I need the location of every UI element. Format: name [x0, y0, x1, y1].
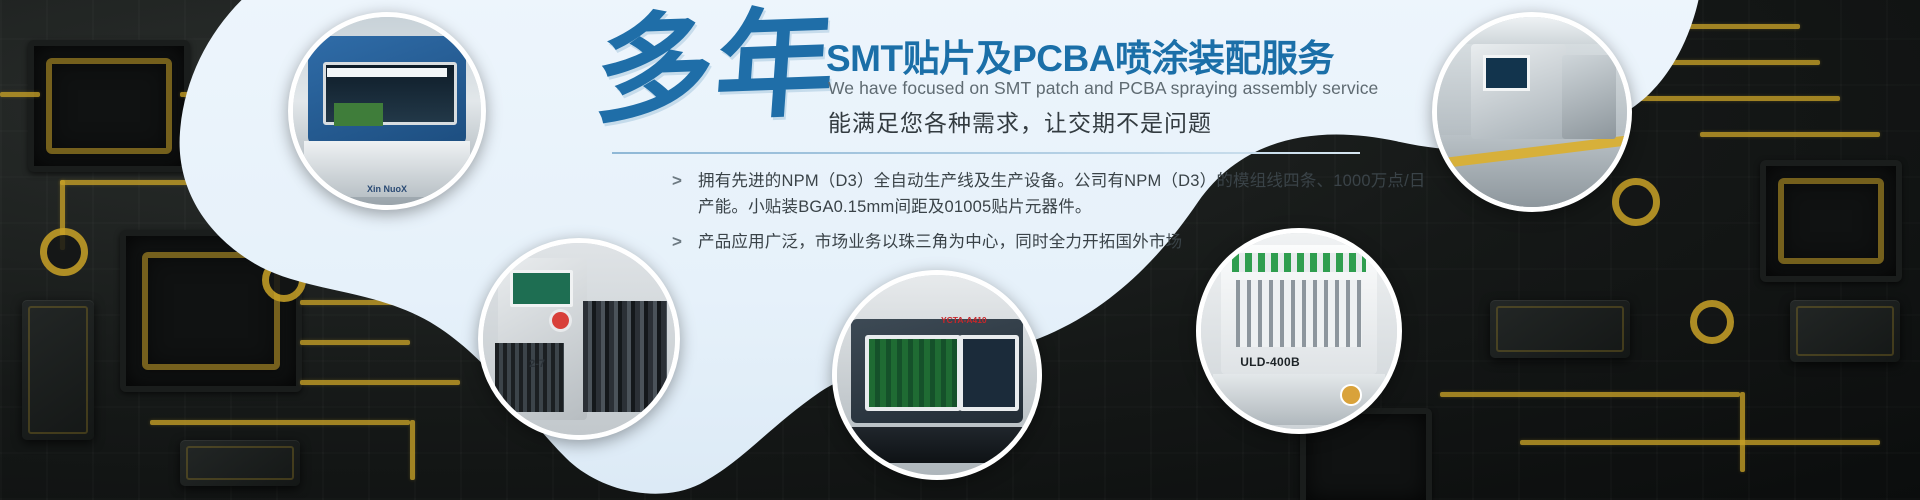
divider-line	[612, 152, 1360, 154]
promo-banner: 多年 SMT贴片及PCBA喷涂装配服务 We have focused on S…	[0, 0, 1920, 500]
machine-label: Xin NuoX	[367, 184, 407, 194]
list-item: > 拥有先进的NPM（D3）全自动生产线及生产设备。公司有NPM（D3）的模组线…	[672, 168, 1432, 220]
photo-aoi-inspection-machine: YCTA-A410	[832, 270, 1042, 480]
photo-smt-printer-machine: Xin NuoX	[288, 12, 486, 210]
photo-pick-and-place-machine: 2-7	[478, 238, 680, 440]
machine-label: YCTA-A410	[941, 315, 987, 325]
machine-label: ULD-400B	[1240, 355, 1300, 369]
list-item-label: 拥有先进的NPM（D3）全自动生产线及生产设备。公司有NPM（D3）的模组线四条…	[698, 168, 1432, 220]
subtitle-english: We have focused on SMT patch and PCBA sp…	[828, 78, 1378, 99]
chevron-right-icon: >	[672, 229, 698, 255]
page-title: SMT贴片及PCBA喷涂装配服务	[826, 28, 1334, 82]
brush-calligraphy-text: 多年	[591, 4, 840, 130]
photo-pcb-loader-machine: ULD-400B	[1196, 228, 1402, 434]
photo-production-line-room	[1432, 12, 1632, 212]
chevron-right-icon: >	[672, 168, 698, 194]
machine-label: 2-7	[529, 358, 545, 370]
list-item-label: 产品应用广泛，市场业务以珠三角为中心，同时全力开拓国外市场	[698, 229, 1182, 255]
subtitle-chinese: 能满足您各种需求，让交期不是问题	[828, 104, 1212, 138]
